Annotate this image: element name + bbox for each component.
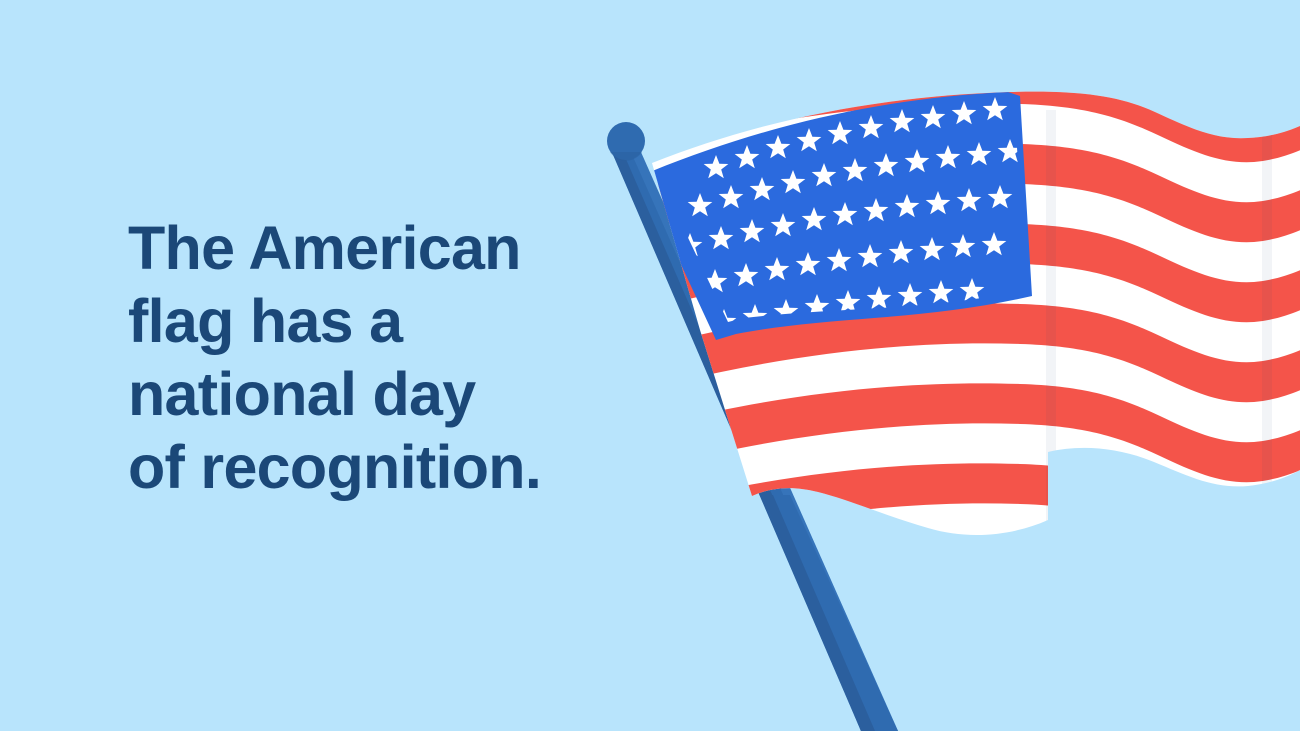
poster-canvas: The American flag has a national day of … bbox=[0, 0, 1300, 731]
flag-canton bbox=[640, 92, 1032, 340]
page-title: The American flag has a national day of … bbox=[128, 212, 668, 504]
flagpole-foreground bbox=[762, 495, 898, 731]
